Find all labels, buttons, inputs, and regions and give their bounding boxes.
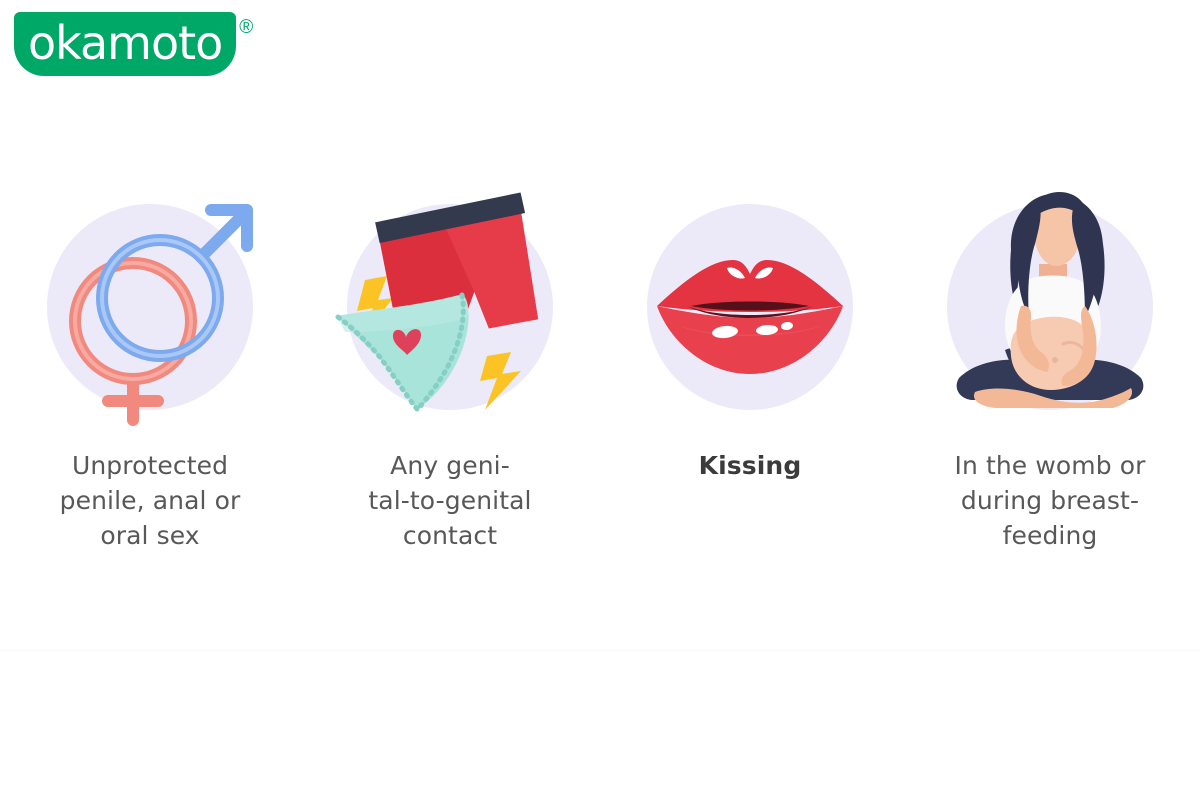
lips-icon bbox=[635, 188, 865, 428]
transmission-card-kissing[interactable]: Kissing bbox=[600, 188, 900, 553]
gender-symbols-icon bbox=[35, 188, 265, 428]
caption-line: In the womb or bbox=[934, 448, 1166, 483]
caption-line: feeding bbox=[934, 518, 1166, 553]
transmission-card-genital-contact[interactable]: Any geni- tal-to-genital contact bbox=[300, 188, 600, 553]
logo-badge: okamoto bbox=[14, 12, 236, 76]
lightning-bolt-icon bbox=[480, 352, 521, 410]
transmission-card-unprotected-sex[interactable]: Unprotected penile, anal or oral sex bbox=[0, 188, 300, 553]
card-caption: Any geni- tal-to-genital contact bbox=[334, 448, 566, 553]
transmission-card-womb-breastfeeding[interactable]: In the womb or during breast- feeding bbox=[900, 188, 1200, 553]
gender-symbols-artwork bbox=[35, 188, 265, 428]
registered-trademark-icon: ® bbox=[239, 18, 253, 37]
underwear-icon bbox=[335, 188, 565, 428]
card-caption: Unprotected penile, anal or oral sex bbox=[34, 448, 266, 553]
caption-line: penile, anal or bbox=[34, 483, 266, 518]
caption-line: oral sex bbox=[34, 518, 266, 553]
lips-artwork bbox=[635, 188, 865, 428]
transmission-methods-band: Unprotected penile, anal or oral sex bbox=[0, 150, 1200, 651]
pregnant-woman-artwork bbox=[935, 188, 1165, 428]
brand-logo[interactable]: okamoto ® bbox=[14, 12, 253, 76]
card-caption: In the womb or during breast- feeding bbox=[934, 448, 1166, 553]
card-caption: Kissing bbox=[634, 448, 866, 483]
caption-line: contact bbox=[334, 518, 566, 553]
caption-line: Unprotected bbox=[34, 448, 266, 483]
pregnant-woman-icon bbox=[935, 188, 1165, 428]
caption-line: tal-to-genital bbox=[334, 483, 566, 518]
transmission-cards-row: Unprotected penile, anal or oral sex bbox=[0, 150, 1200, 553]
caption-line: during breast- bbox=[934, 483, 1166, 518]
underwear-artwork bbox=[335, 188, 565, 428]
panties-shape bbox=[337, 294, 469, 410]
logo-wordmark: okamoto bbox=[28, 15, 222, 71]
caption-line: Any geni- bbox=[334, 448, 566, 483]
caption-line: Kissing bbox=[634, 448, 866, 483]
